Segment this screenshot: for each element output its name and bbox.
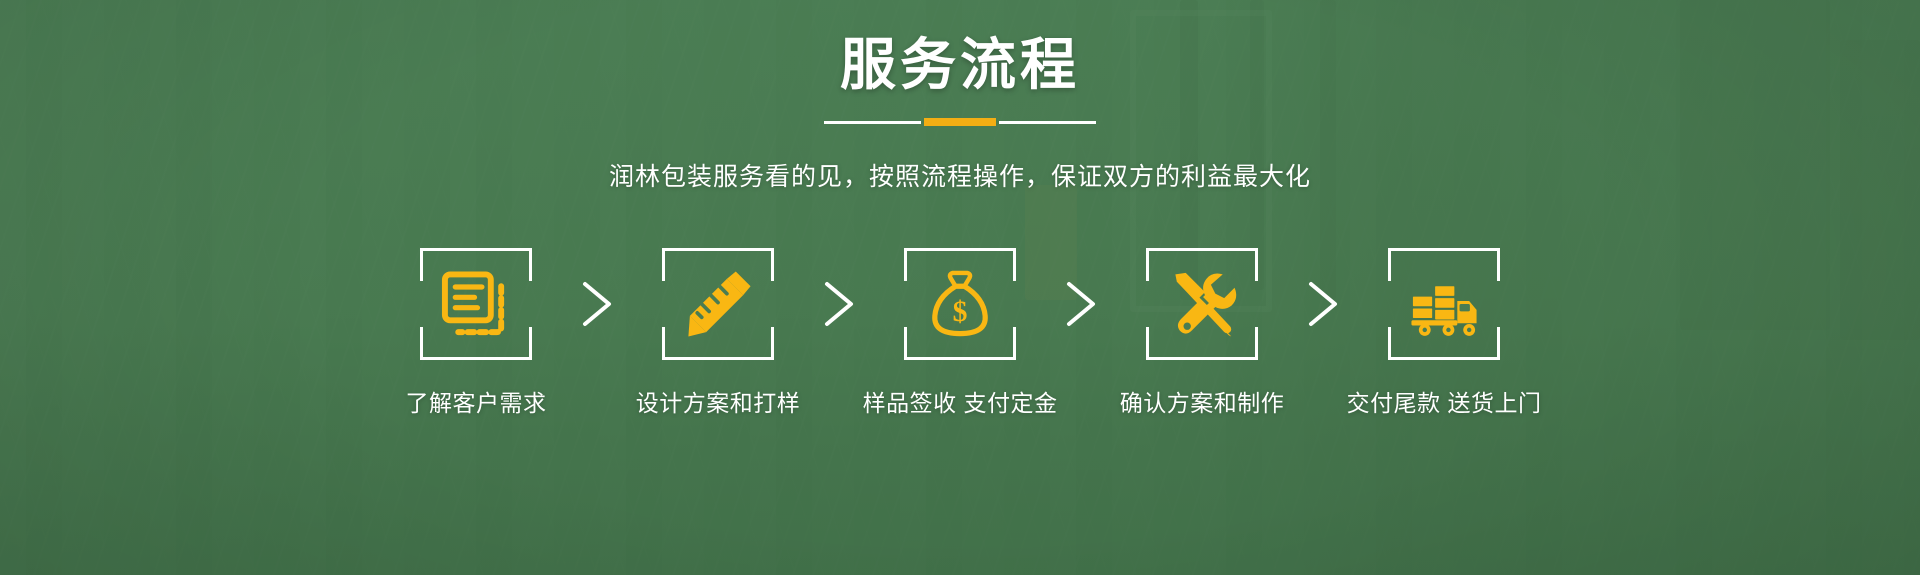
step-separator-3 — [1045, 248, 1117, 360]
service-process-banner: 服务流程 润林包装服务看的见，按照流程操作，保证双方的利益最大化 — [0, 0, 1920, 575]
frame-corner-bottom-left — [904, 327, 937, 360]
divider-center-block — [924, 118, 996, 126]
frame-corner-top-left — [1146, 248, 1179, 281]
step-4-icon-frame — [1146, 248, 1258, 360]
step-5-icon-frame — [1388, 248, 1500, 360]
frame-corner-top-right — [1467, 248, 1500, 281]
frame-edge-top — [1176, 248, 1228, 251]
frame-corner-bottom-right — [499, 327, 532, 360]
frame-edge-bottom — [1176, 357, 1228, 360]
frame-corner-top-left — [662, 248, 695, 281]
frame-corner-bottom-right — [1225, 327, 1258, 360]
frame-corner-top-left — [420, 248, 453, 281]
frame-corner-bottom-right — [1467, 327, 1500, 360]
frame-corner-top-left — [1388, 248, 1421, 281]
frame-edge-top — [1418, 248, 1470, 251]
step-3-label: 样品签收 支付定金 — [863, 384, 1058, 418]
step-separator-4 — [1287, 248, 1359, 360]
title-divider — [824, 118, 1096, 126]
step-3-icon-frame: $ — [904, 248, 1016, 360]
frame-edge-top — [450, 248, 502, 251]
frame-edge-bottom — [934, 357, 986, 360]
svg-text:$: $ — [953, 296, 968, 328]
frame-edge-bottom — [692, 357, 744, 360]
step-2-icon-frame — [662, 248, 774, 360]
frame-corner-top-right — [499, 248, 532, 281]
step-separator-1 — [561, 248, 633, 360]
frame-corner-top-right — [1225, 248, 1258, 281]
frame-corner-top-right — [741, 248, 774, 281]
frame-corner-top-left — [904, 248, 937, 281]
frame-edge-bottom — [1418, 357, 1470, 360]
frame-edge-top — [692, 248, 744, 251]
chevron-right-icon — [1061, 278, 1101, 330]
process-step-5[interactable]: 交付尾款 送货上门 — [1359, 248, 1529, 418]
step-1-icon-frame — [420, 248, 532, 360]
banner-content: 服务流程 润林包装服务看的见，按照流程操作，保证双方的利益最大化 — [0, 0, 1920, 575]
frame-corner-bottom-left — [420, 327, 453, 360]
step-1-label: 了解客户需求 — [406, 384, 547, 418]
step-4-label: 确认方案和制作 — [1120, 384, 1285, 418]
chevron-right-icon — [819, 278, 859, 330]
banner-title: 服务流程 — [0, 34, 1920, 96]
divider-left-rule — [824, 121, 921, 124]
step-2-label: 设计方案和打样 — [636, 384, 801, 418]
frame-corner-top-right — [983, 248, 1016, 281]
frame-edge-top — [934, 248, 986, 251]
step-5-label: 交付尾款 送货上门 — [1347, 384, 1542, 418]
frame-edge-bottom — [450, 357, 502, 360]
frame-corner-bottom-right — [983, 327, 1016, 360]
chevron-right-icon — [1303, 278, 1343, 330]
frame-corner-bottom-right — [741, 327, 774, 360]
process-step-1[interactable]: 了解客户需求 — [391, 248, 561, 418]
frame-corner-bottom-left — [1388, 327, 1421, 360]
process-step-4[interactable]: 确认方案和制作 — [1117, 248, 1287, 418]
process-step-2[interactable]: 设计方案和打样 — [633, 248, 803, 418]
banner-subtitle: 润林包装服务看的见，按照流程操作，保证双方的利益最大化 — [0, 157, 1920, 193]
step-separator-2 — [803, 248, 875, 360]
divider-right-rule — [999, 121, 1096, 124]
frame-corner-bottom-left — [662, 327, 695, 360]
process-steps: 了解客户需求 — [340, 248, 1580, 418]
frame-corner-bottom-left — [1146, 327, 1179, 360]
process-step-3[interactable]: $ 样品签收 支付定金 — [875, 248, 1045, 418]
chevron-right-icon — [577, 278, 617, 330]
